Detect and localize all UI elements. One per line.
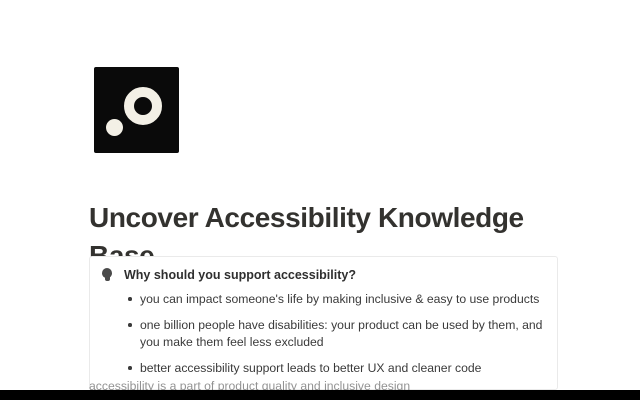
clipped-next-paragraph-text: accessibility is a part of product quali… <box>89 379 559 390</box>
logo-dot-shape <box>106 119 123 136</box>
callout-block[interactable]: Why should you support accessibility? yo… <box>89 256 558 390</box>
page-root: Uncover Accessibility Knowledge Base Why… <box>0 0 640 400</box>
clipped-next-paragraph[interactable]: accessibility is a part of product quali… <box>89 379 559 390</box>
uncover-logo-ring-dot-icon <box>94 67 179 153</box>
page-icon[interactable] <box>94 67 179 153</box>
list-item[interactable]: better accessibility support leads to be… <box>100 360 543 377</box>
logo-ring-shape <box>124 87 162 125</box>
viewport-bottom-bar <box>0 390 640 400</box>
lightbulb-base-shape <box>105 276 110 281</box>
callout-header: Why should you support accessibility? <box>100 267 543 284</box>
callout-heading: Why should you support accessibility? <box>124 267 356 283</box>
lightbulb-icon <box>100 268 114 284</box>
list-item[interactable]: you can impact someone's life by making … <box>100 291 543 308</box>
callout-bullet-list: you can impact someone's life by making … <box>100 291 543 377</box>
list-item[interactable]: one billion people have disabilities: yo… <box>100 317 543 351</box>
